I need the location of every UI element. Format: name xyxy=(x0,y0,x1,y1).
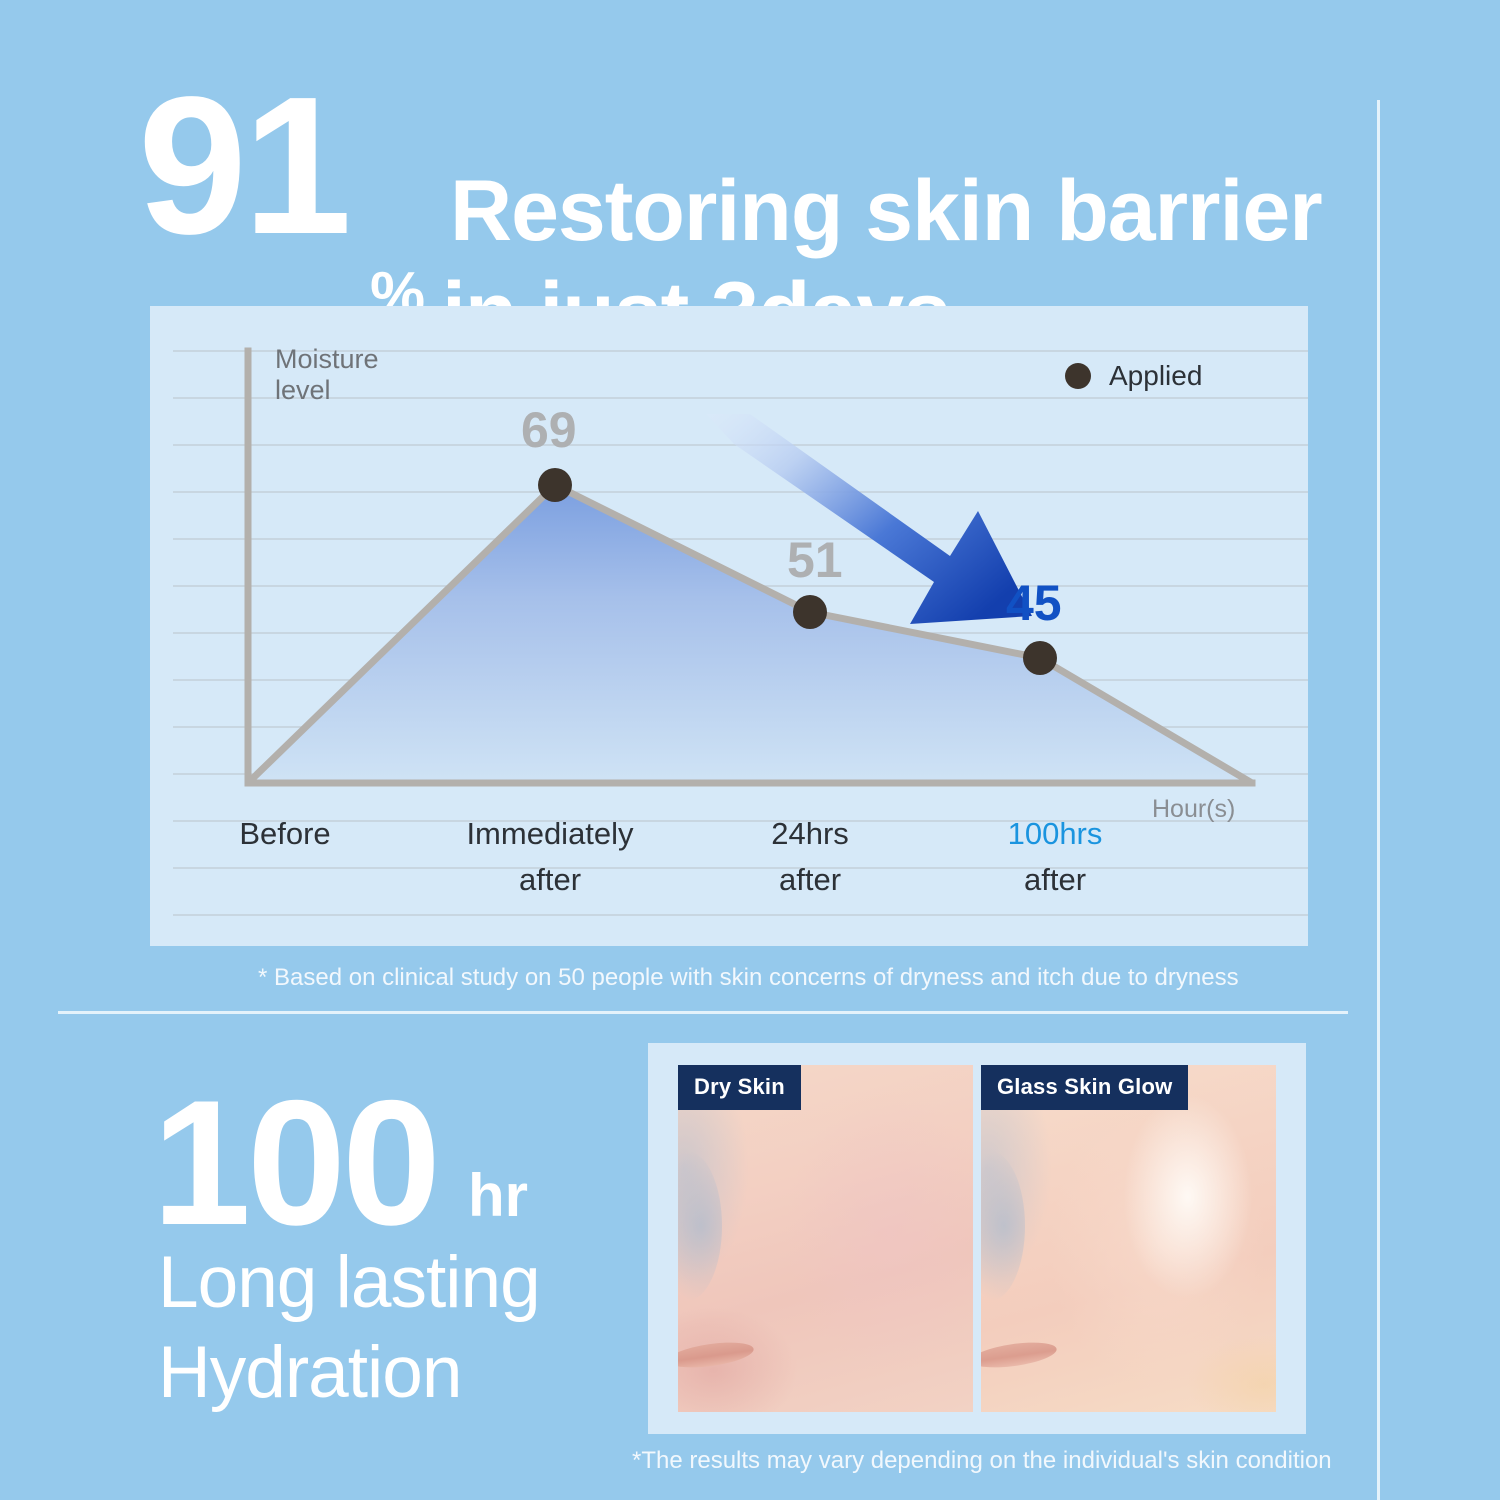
chart-panel: Moisture level Hour(s) Applied 69 51 45 … xyxy=(150,306,1308,946)
claim-number: 100 xyxy=(152,1074,437,1252)
comparison-panel: Dry Skin Glass Skin Glow xyxy=(648,1043,1306,1434)
data-point-100hrs xyxy=(1023,641,1057,675)
x-axis-label-immediately-top: Immediately xyxy=(420,811,680,857)
x-axis-label-immediately-bottom: after xyxy=(420,857,680,903)
infographic-root: 91 % Restoring skin barrier in just 3day… xyxy=(0,0,1500,1500)
dry-skin-badge: Dry Skin xyxy=(678,1065,801,1110)
headline-number: 91 xyxy=(138,68,348,264)
chart-footnote: * Based on clinical study on 50 people w… xyxy=(258,964,1239,992)
comparison-images: Dry Skin Glass Skin Glow xyxy=(678,1065,1276,1412)
data-point-24hrs xyxy=(793,595,827,629)
headline-block: 91 % Restoring skin barrier in just 3day… xyxy=(138,86,1368,286)
claim-line-2: Hydration xyxy=(158,1336,461,1409)
x-axis-label-24hrs: 24hrs after xyxy=(710,811,910,903)
x-axis-label-before: Before xyxy=(180,811,390,857)
glass-skin-photo: Glass Skin Glow xyxy=(981,1065,1276,1412)
value-label-24hrs: 51 xyxy=(787,535,843,585)
x-axis-label-100hrs-bottom: after xyxy=(940,857,1170,903)
legend-label: Applied xyxy=(1109,360,1202,392)
claim-line-1: Long lasting xyxy=(158,1246,540,1319)
x-axis-label-100hrs-top: 100hrs xyxy=(940,811,1170,857)
claim-unit: hr xyxy=(468,1166,528,1226)
headline-line-1: Restoring skin barrier xyxy=(450,168,1322,254)
dry-skin-photo: Dry Skin xyxy=(678,1065,973,1412)
value-label-immediately: 69 xyxy=(521,405,577,455)
horizontal-divider xyxy=(58,1011,1348,1014)
data-point-immediately xyxy=(538,468,572,502)
glass-skin-badge: Glass Skin Glow xyxy=(981,1065,1188,1110)
vertical-divider xyxy=(1377,100,1380,1500)
y-axis-title: Moisture level xyxy=(275,344,379,406)
x-axis-label-24hrs-bottom: after xyxy=(710,857,910,903)
x-axis-label-before-top: Before xyxy=(180,811,390,857)
x-axis-label-100hrs: 100hrs after xyxy=(940,811,1170,903)
legend-dot-icon xyxy=(1065,363,1091,389)
value-label-100hrs: 45 xyxy=(1006,578,1062,628)
comparison-footnote: *The results may vary depending on the i… xyxy=(632,1447,1332,1475)
x-axis-label-24hrs-top: 24hrs xyxy=(710,811,910,857)
chart-legend: Applied xyxy=(1065,360,1202,392)
x-axis-label-immediately: Immediately after xyxy=(420,811,680,903)
